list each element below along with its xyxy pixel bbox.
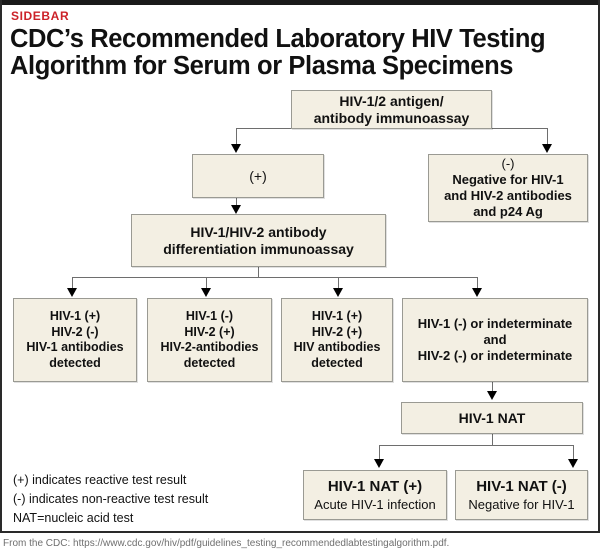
frame-top-rule [0, 0, 600, 5]
legend-line-1: (+) indicates reactive test result [13, 471, 278, 490]
frame-left-border [0, 0, 2, 533]
node-screening-line-2: antibody immunoassay [314, 110, 470, 127]
node-result4-line-3: HIV-2 (-) or indeterminate [418, 348, 573, 364]
node-result-hiv2-positive[interactable]: HIV-1 (-) HIV-2 (+) HIV-2-antibodies det… [147, 298, 272, 382]
node-negative[interactable]: (-) Negative for HIV-1 and HIV-2 antibod… [428, 154, 588, 222]
node-result2-line-1: HIV-1 (-) [186, 309, 233, 325]
node-hiv1-nat[interactable]: HIV-1 NAT [401, 402, 583, 434]
node-screening-immunoassay[interactable]: HIV-1/2 antigen/ antibody immunoassay [291, 90, 492, 129]
node-positive[interactable]: (+) [192, 154, 324, 198]
arrow-to-nat [487, 391, 497, 400]
connector-nat-split-horizontal [379, 445, 573, 446]
legend-line-2: (-) indicates non-reactive test result [13, 490, 278, 509]
arrow-to-negative [542, 144, 552, 153]
arrow-to-nat-negative [568, 459, 578, 468]
arrow-to-differentiation [231, 205, 241, 214]
node-result1-line-3: HIV-1 antibodies [26, 340, 123, 356]
node-negative-line-2: Negative for HIV-1 [452, 172, 563, 188]
arrow-to-result3 [333, 288, 343, 297]
node-result1-line-2: HIV-2 (-) [51, 325, 98, 341]
node-differentiation-immunoassay[interactable]: HIV-1/HIV-2 antibody differentiation imm… [131, 214, 386, 267]
node-nat-negative[interactable]: HIV-1 NAT (-) Negative for HIV-1 [455, 470, 588, 520]
page-title: CDC’s Recommended Laboratory HIV Testing… [10, 26, 590, 80]
node-negative-line-3: and HIV-2 antibodies [444, 188, 572, 204]
frame-bottom-border [0, 531, 600, 533]
node-result3-line-3: HIV antibodies [294, 340, 381, 356]
node-nat-label: HIV-1 NAT [402, 410, 582, 427]
arrow-to-positive [231, 144, 241, 153]
legend: (+) indicates reactive test result (-) i… [13, 471, 278, 528]
source-credit: From the CDC: https://www.cdc.gov/hiv/pd… [3, 538, 597, 550]
node-result-indeterminate[interactable]: HIV-1 (-) or indeterminate and HIV-2 (-)… [402, 298, 588, 382]
node-negative-line-1: (-) [502, 156, 515, 172]
node-negative-line-4: and p24 Ag [473, 204, 543, 220]
arrow-to-result2 [201, 288, 211, 297]
node-result3-line-2: HIV-2 (+) [312, 325, 362, 341]
node-result4-line-1: HIV-1 (-) or indeterminate [418, 316, 573, 332]
page-title-line-2: Algorithm for Serum or Plasma Specimens [10, 53, 590, 80]
node-nat-negative-subtitle: Negative for HIV-1 [468, 496, 574, 513]
node-result2-line-3: HIV-2-antibodies [161, 340, 259, 356]
connector-nat-positive-drop [379, 445, 380, 460]
connector-nat-stem [492, 434, 493, 445]
arrow-to-result1 [67, 288, 77, 297]
node-nat-positive-subtitle: Acute HIV-1 infection [314, 496, 435, 513]
connector-nat-negative-drop [573, 445, 574, 460]
node-screening-line-1: HIV-1/2 antigen/ [339, 93, 443, 110]
node-differentiation-line-2: differentiation immunoassay [163, 241, 354, 258]
node-result3-line-1: HIV-1 (+) [312, 309, 362, 325]
sidebar-kicker: SIDEBAR [11, 10, 69, 23]
node-result2-line-4: detected [184, 356, 235, 372]
arrow-to-nat-positive [374, 459, 384, 468]
node-nat-positive[interactable]: HIV-1 NAT (+) Acute HIV-1 infection [303, 470, 447, 520]
node-result2-line-2: HIV-2 (+) [184, 325, 234, 341]
node-nat-negative-title: HIV-1 NAT (-) [476, 477, 567, 496]
node-result4-line-2: and [483, 332, 506, 348]
node-nat-positive-title: HIV-1 NAT (+) [328, 477, 422, 496]
node-differentiation-line-1: HIV-1/HIV-2 antibody [190, 224, 326, 241]
legend-line-3: NAT=nucleic acid test [13, 509, 278, 528]
page-title-line-1: CDC’s Recommended Laboratory HIV Testing [10, 26, 590, 53]
node-result1-line-4: detected [49, 356, 100, 372]
connector-differentiation-split-horizontal [72, 277, 477, 278]
node-result3-line-4: detected [311, 356, 362, 372]
sidebar-figure-page: SIDEBAR CDC’s Recommended Laboratory HIV… [0, 0, 600, 556]
node-result-hiv1-positive[interactable]: HIV-1 (+) HIV-2 (-) HIV-1 antibodies det… [13, 298, 137, 382]
arrow-to-result4 [472, 288, 482, 297]
node-positive-label: (+) [193, 168, 323, 185]
node-result-both-positive[interactable]: HIV-1 (+) HIV-2 (+) HIV antibodies detec… [281, 298, 393, 382]
node-result1-line-1: HIV-1 (+) [50, 309, 100, 325]
connector-differentiation-stem [258, 267, 259, 277]
